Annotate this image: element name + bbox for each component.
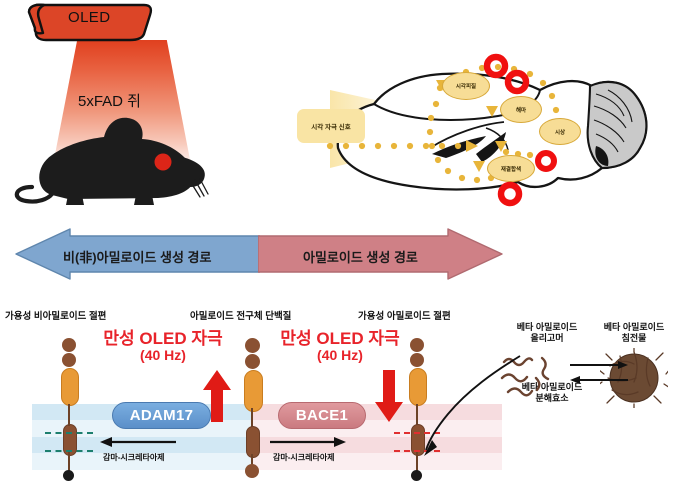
cleavage-dash-left-1	[45, 432, 93, 434]
enzyme-bace1[interactable]: BACE1	[278, 402, 366, 429]
gamma-secretase-arrow-right	[268, 436, 348, 448]
oled-stim-right-line2: (40 Hz)	[265, 348, 415, 363]
protein-center-intracellular-domain	[245, 464, 259, 478]
label-beta-amyloid-deposit: 베타 아밀로이드 침전물	[588, 322, 680, 344]
enzyme-adam17-label: ADAM17	[130, 407, 193, 424]
roi-hippocampus: 해마	[500, 96, 542, 123]
caption-soluble-non-amyloid-fragment: 가용성 비아밀로이드 절편	[5, 308, 106, 322]
visual-stimulus-signal-box: 시각 자극 신호	[297, 109, 365, 143]
roi-label-retrosplenial: 재결합색	[501, 165, 521, 173]
enzyme-bace1-label: BACE1	[296, 407, 348, 424]
protein-right-head-1	[410, 338, 424, 352]
protein-center-head-1	[245, 338, 260, 353]
gamma-secretase-label-left: 감마-시크레타아제	[103, 452, 165, 463]
gamma-secretase-arrow-left	[98, 436, 178, 448]
non-amyloidogenic-pathway-label: 비(非)아밀로이드 생성 경로	[63, 247, 211, 266]
oligomer-line1: 베타 아밀로이드	[492, 322, 602, 333]
deposit-line2: 침전물	[588, 333, 680, 344]
cleavage-dash-left-2	[45, 450, 93, 452]
activation-ring-4	[496, 180, 524, 208]
activation-ring-2	[503, 68, 531, 96]
protein-right-stem-upper	[416, 404, 418, 426]
oligomer-line2: 올리고머	[492, 333, 602, 344]
caption-soluble-amyloid-fragment: 가용성 아밀로이드 절편	[358, 308, 451, 322]
roi-label-thalamus: 시상	[555, 128, 565, 136]
enzyme-adam17[interactable]: ADAM17	[112, 402, 211, 429]
protein-right-intracellular-domain	[411, 470, 422, 481]
protein-left-ectodomain	[61, 368, 79, 406]
gamma-secretase-label-right: 감마-시크레타아제	[273, 452, 335, 463]
roi-label-visual-cortex: 시각피질	[456, 82, 476, 90]
protein-center-head-2	[245, 354, 260, 369]
deposit-line1: 베타 아밀로이드	[588, 322, 680, 333]
protein-left-stem-upper	[68, 404, 70, 426]
roi-label-hippocampus: 해마	[516, 106, 526, 114]
amyloid-equilibrium-arrows	[568, 358, 630, 388]
oled-stim-left-line1: 만성 OLED 자극	[88, 330, 238, 348]
bace1-decrease-arrow	[374, 368, 404, 424]
oled-stimulation-left: 만성 OLED 자극 (40 Hz)	[88, 330, 238, 363]
protein-left-head-1	[62, 338, 76, 352]
ctf-to-oligomer-path	[424, 352, 524, 458]
oled-stimulation-right: 만성 OLED 자극 (40 Hz)	[265, 330, 415, 363]
roi-thalamus: 시상	[539, 118, 581, 145]
protein-center-tm-domain	[246, 426, 260, 458]
caption-app-protein: 아밀로이드 전구체 단백질	[190, 308, 291, 322]
roi-retrosplenial: 재결합색	[487, 155, 535, 182]
protein-left-intracellular-domain	[63, 470, 74, 481]
oled-label: OLED	[68, 9, 110, 26]
oled-stim-right-line1: 만성 OLED 자극	[265, 330, 415, 348]
oled-stim-left-line2: (40 Hz)	[88, 348, 238, 363]
visual-stimulus-signal-label: 시각 자극 신호	[311, 121, 351, 131]
mouse-eye-highlight	[155, 154, 172, 171]
mouse-silhouette	[8, 95, 223, 210]
oled-mouse-panel: OLED 5xFAD 쥐	[0, 0, 300, 215]
protein-center-ectodomain	[244, 370, 263, 412]
label-beta-amyloid-oligomer: 베타 아밀로이드 올리고머	[492, 322, 602, 344]
protein-center-stem-upper	[251, 408, 253, 428]
amyloidogenic-pathway-label: 아밀로이드 생성 경로	[303, 247, 418, 266]
adam17-increase-arrow	[202, 368, 232, 424]
protein-right-head-2	[410, 353, 424, 367]
activation-ring-3	[533, 148, 559, 174]
protein-left-head-2	[62, 353, 76, 367]
